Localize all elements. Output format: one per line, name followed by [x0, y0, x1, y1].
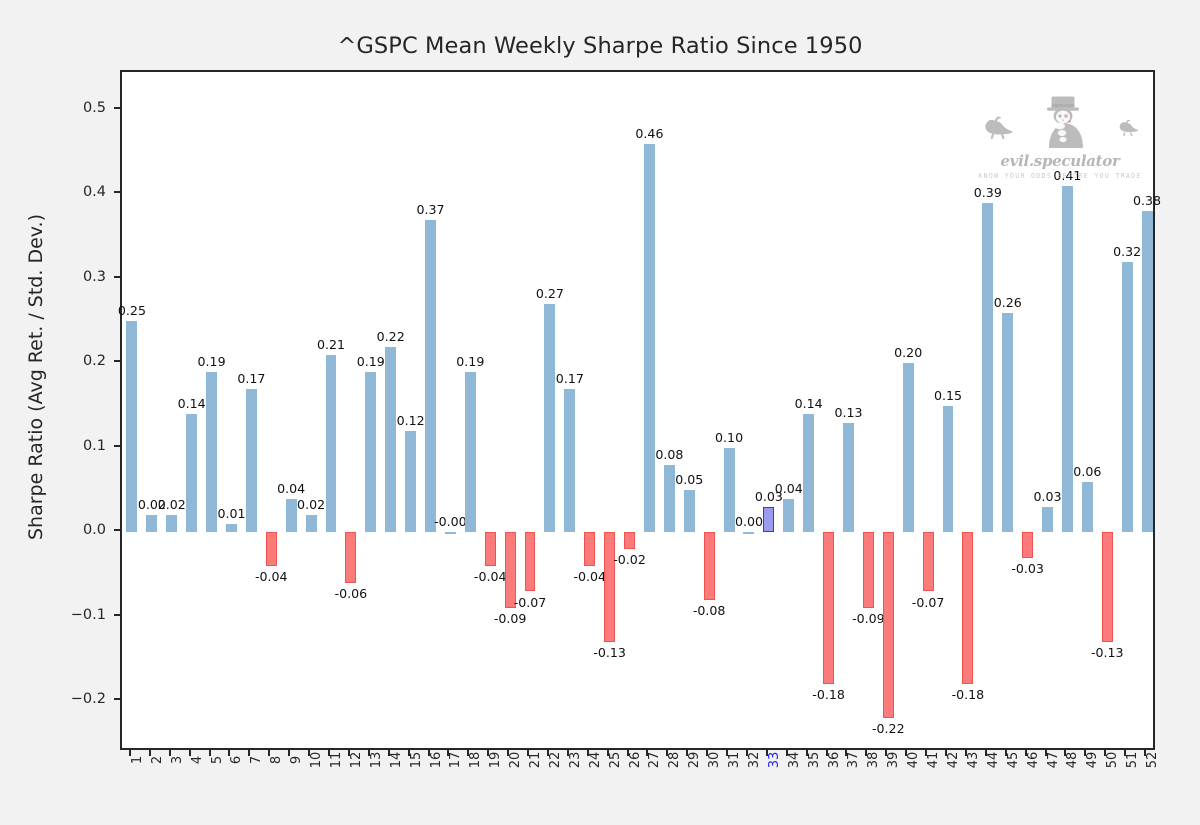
bar[interactable] [186, 414, 197, 532]
bar-value-label: -0.08 [693, 603, 726, 618]
bar-value-label: 0.32 [1113, 244, 1141, 259]
x-tick-label[interactable]: 11 [329, 752, 344, 769]
bar[interactable] [863, 532, 874, 608]
bar-value-label: -0.04 [255, 569, 288, 584]
bar[interactable] [724, 448, 735, 532]
bar-value-label: -0.03 [1011, 561, 1044, 576]
bar[interactable] [644, 144, 655, 533]
x-tick-label[interactable]: 45 [1006, 752, 1021, 769]
bar[interactable] [146, 515, 157, 532]
y-axis-label: Sharpe Ratio (Avg Ret. / Std. Dev.) [25, 57, 47, 697]
bar-value-label: 0.19 [357, 354, 385, 369]
bar-value-label: 0.04 [775, 481, 803, 496]
x-tick-label[interactable]: 40 [906, 752, 921, 769]
bar[interactable] [345, 532, 356, 583]
bar[interactable] [564, 389, 575, 533]
bar-value-label: -0.09 [494, 611, 527, 626]
x-tick-label[interactable]: 6 [229, 756, 244, 764]
x-tick-label[interactable]: 23 [568, 752, 583, 769]
x-tick-label[interactable]: 36 [827, 752, 842, 769]
y-tick-label: 0.5 [46, 100, 106, 116]
bar-value-label: 0.13 [834, 405, 862, 420]
y-tick-label: −0.1 [46, 607, 106, 623]
bar-value-label: 0.38 [1133, 193, 1161, 208]
bar-value-label: 0.08 [655, 447, 683, 462]
bar-value-label: 0.46 [635, 126, 663, 141]
x-tick-label[interactable]: 18 [468, 752, 483, 769]
bar-value-label: 0.14 [178, 396, 206, 411]
bar[interactable] [246, 389, 257, 533]
bar-value-label: 0.12 [397, 413, 425, 428]
x-tick-label[interactable]: 9 [289, 756, 304, 764]
bar-value-label: 0.10 [715, 430, 743, 445]
bar[interactable] [823, 532, 834, 684]
x-tick-label[interactable]: 37 [846, 752, 861, 769]
bar[interactable] [1042, 507, 1053, 532]
bar-value-label: 0.01 [217, 506, 245, 521]
x-tick-label[interactable]: 39 [886, 752, 901, 769]
bar[interactable] [485, 532, 496, 566]
bar-value-label: 0.05 [675, 472, 703, 487]
bar[interactable] [385, 347, 396, 533]
x-tick-label[interactable]: 5 [210, 756, 225, 764]
x-tick-label[interactable]: 15 [409, 752, 424, 769]
bar-value-label: -0.04 [474, 569, 507, 584]
bar[interactable] [405, 431, 416, 532]
y-tick-label: 0.1 [46, 438, 106, 454]
bar-value-label: -0.09 [852, 611, 885, 626]
bar-value-label: 0.41 [1053, 168, 1081, 183]
y-tick-label: 0.3 [46, 269, 106, 285]
bar[interactable] [962, 532, 973, 684]
bar[interactable] [326, 355, 337, 532]
y-tick-label: 0.4 [46, 184, 106, 200]
chart-figure: ^GSPC Mean Weekly Sharpe Ratio Since 195… [0, 0, 1200, 825]
x-tick-label[interactable]: 52 [1145, 752, 1160, 769]
x-tick-label[interactable]: 51 [1125, 752, 1140, 769]
x-tick-label[interactable]: 29 [687, 752, 702, 769]
x-tick-label[interactable]: 13 [369, 752, 384, 769]
x-tick-label[interactable]: 10 [309, 752, 324, 769]
x-tick-label[interactable]: 1 [130, 756, 145, 764]
bar[interactable] [1102, 532, 1113, 642]
bar-value-label: 0.06 [1073, 464, 1101, 479]
x-tick-label[interactable]: 41 [926, 752, 941, 769]
bar-value-label: 0.21 [317, 337, 345, 352]
x-tick-label[interactable]: 44 [986, 752, 1001, 769]
x-tick-label[interactable]: 28 [667, 752, 682, 769]
bar[interactable] [465, 372, 476, 532]
bar[interactable] [286, 499, 297, 533]
bar[interactable] [1002, 313, 1013, 533]
bar[interactable] [365, 372, 376, 532]
bar-value-label: 0.19 [456, 354, 484, 369]
x-tick-label[interactable]: 31 [727, 752, 742, 769]
bar[interactable] [525, 532, 536, 591]
x-tick-label[interactable]: 25 [608, 752, 623, 769]
bar-value-label: 0.20 [894, 345, 922, 360]
x-tick-label[interactable]: 26 [628, 752, 643, 769]
bar-value-label: 0.39 [974, 185, 1002, 200]
x-tick-label[interactable]: 22 [548, 752, 563, 769]
x-tick-label[interactable]: 35 [807, 752, 822, 769]
x-tick-label[interactable]: 38 [866, 752, 881, 769]
x-tick-label[interactable]: 12 [349, 752, 364, 769]
x-tick-label[interactable]: 27 [647, 752, 662, 769]
x-tick-label[interactable]: 21 [528, 752, 543, 769]
bar[interactable] [206, 372, 217, 532]
chart-title: ^GSPC Mean Weekly Sharpe Ratio Since 195… [0, 33, 1200, 59]
bar-value-label: 0.25 [118, 303, 146, 318]
x-tick-label[interactable]: 46 [1026, 752, 1041, 769]
y-tick-label: −0.2 [46, 691, 106, 707]
bar-value-label: -0.18 [812, 687, 845, 702]
x-tick-label[interactable]: 3 [170, 756, 185, 764]
bar[interactable] [1082, 482, 1093, 533]
bar-value-label: 0.37 [416, 202, 444, 217]
x-tick-label[interactable]: 19 [488, 752, 503, 769]
x-tick-label[interactable]: 7 [249, 756, 264, 764]
bar-value-label: 0.22 [377, 329, 405, 344]
bar-value-label: -0.18 [952, 687, 985, 702]
bar-value-label: -0.07 [912, 595, 945, 610]
bar[interactable] [803, 414, 814, 532]
x-tick-label[interactable]: 34 [787, 752, 802, 769]
x-tick-label[interactable]: 42 [946, 752, 961, 769]
bar-value-label: 0.27 [536, 286, 564, 301]
bar[interactable] [306, 515, 317, 532]
bar-value-label: 0.02 [297, 497, 325, 512]
bar[interactable] [704, 532, 715, 600]
x-tick-label[interactable]: 32 [747, 752, 762, 769]
bar-highlighted[interactable] [763, 507, 774, 532]
y-tick-label: 0.0 [46, 522, 106, 538]
x-tick-label[interactable]: 4 [190, 756, 205, 764]
bar[interactable] [1062, 186, 1073, 532]
bar-value-label: -0.04 [573, 569, 606, 584]
x-tick-label[interactable]: 16 [429, 752, 444, 769]
bar-value-label: -0.22 [872, 721, 905, 736]
bar-value-label: 0.02 [158, 497, 186, 512]
bar[interactable] [1122, 262, 1133, 532]
bar[interactable] [166, 515, 177, 532]
bar-value-label: 0.17 [237, 371, 265, 386]
bar-value-label: 0.17 [556, 371, 584, 386]
bar[interactable] [584, 532, 595, 566]
bar[interactable] [923, 532, 934, 591]
bar[interactable] [266, 532, 277, 566]
y-tick-label: 0.2 [46, 353, 106, 369]
bar-value-label: 0.03 [1033, 489, 1061, 504]
bar-value-label: -0.13 [593, 645, 626, 660]
x-tick-label[interactable]: 14 [389, 752, 404, 769]
bar[interactable] [982, 203, 993, 532]
bar[interactable] [1142, 211, 1153, 532]
bar[interactable] [883, 532, 894, 718]
bar[interactable] [425, 220, 436, 533]
bar-value-label: 0.04 [277, 481, 305, 496]
x-tick-label[interactable]: 50 [1105, 752, 1120, 769]
bar[interactable] [604, 532, 615, 642]
bar-value-label: 0.00 [735, 514, 763, 529]
bar[interactable] [743, 532, 754, 534]
bar[interactable] [226, 524, 237, 532]
x-tick-label[interactable]: 49 [1085, 752, 1100, 769]
bar[interactable] [903, 363, 914, 532]
bar-value-label: 0.15 [934, 388, 962, 403]
bar[interactable] [544, 304, 555, 532]
x-tick-label[interactable]: 8 [269, 756, 284, 764]
x-tick-label[interactable]: 33 [767, 752, 782, 769]
bar-value-label: -0.00 [434, 514, 467, 529]
bars-container: 0.250.020.020.140.190.010.17-0.040.040.0… [122, 72, 1153, 748]
x-tick-label[interactable]: 43 [966, 752, 981, 769]
bar[interactable] [624, 532, 635, 549]
x-tick-label[interactable]: 30 [707, 752, 722, 769]
bar-value-label: -0.07 [514, 595, 547, 610]
x-tick-label[interactable]: 20 [508, 752, 523, 769]
bar[interactable] [445, 532, 456, 534]
bar[interactable] [943, 406, 954, 533]
x-tick-label[interactable]: 47 [1046, 752, 1061, 769]
bar[interactable] [783, 499, 794, 533]
bar-value-label: -0.06 [335, 586, 368, 601]
bar-value-label: -0.13 [1091, 645, 1124, 660]
plot-area: 0.250.020.020.140.190.010.17-0.040.040.0… [120, 70, 1155, 750]
x-tick-label[interactable]: 48 [1065, 752, 1080, 769]
bar-value-label: 0.19 [198, 354, 226, 369]
x-tick-label[interactable]: 17 [448, 752, 463, 769]
bar-value-label: -0.02 [613, 552, 646, 567]
bar-value-label: 0.14 [795, 396, 823, 411]
bar[interactable] [664, 465, 675, 533]
bar[interactable] [1022, 532, 1033, 557]
bar[interactable] [126, 321, 137, 532]
x-tick-label[interactable]: 24 [588, 752, 603, 769]
bar-value-label: 0.26 [994, 295, 1022, 310]
x-tick-label[interactable]: 2 [150, 756, 165, 764]
bar[interactable] [843, 423, 854, 533]
bar[interactable] [684, 490, 695, 532]
